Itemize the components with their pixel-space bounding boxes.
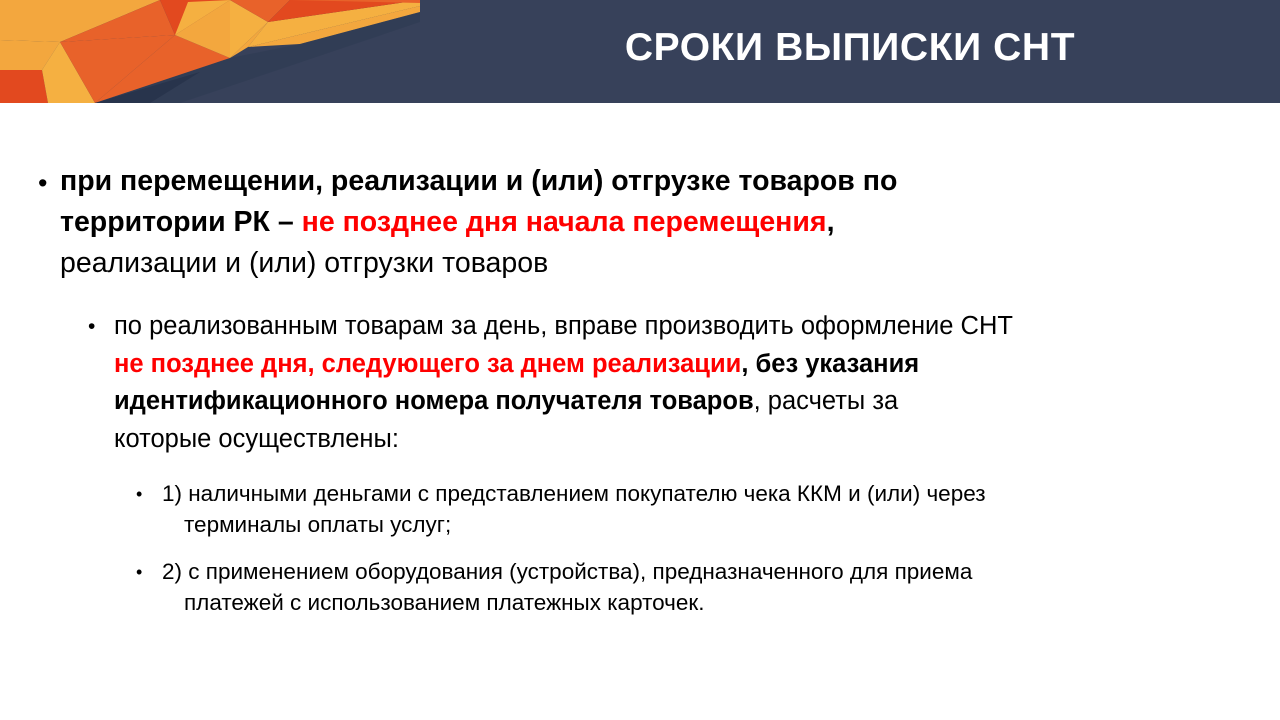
polygon-decoration-icon xyxy=(0,0,420,103)
level2-line1: по реализованным товарам за день, вправе… xyxy=(114,308,1260,346)
bullet-marker-level1: • xyxy=(38,161,60,203)
bullet-level1-text: при перемещении, реализации и (или) отгр… xyxy=(60,161,1254,284)
level2-line3-bold: идентификационного номера получателя тов… xyxy=(114,387,754,415)
level1-line2-black-b: , xyxy=(827,206,835,238)
level1-line2: территории РК – не позднее дня начала пе… xyxy=(60,202,1254,243)
bullet-level3-item2-text: 2) с применением оборудования (устройств… xyxy=(162,556,1266,618)
slide-header-band: СРОКИ ВЫПИСКИ СНТ xyxy=(0,0,1280,103)
level1-line1: при перемещении, реализации и (или) отгр… xyxy=(60,161,1254,202)
level2-line2: не позднее дня, следующего за днем реали… xyxy=(114,346,1260,384)
bullet-level2: • по реализованным товарам за день, впра… xyxy=(88,308,1260,458)
bullet-level3-item1: • 1) наличными деньгами с представлением… xyxy=(136,478,1266,540)
bullet-level1: • при перемещении, реализации и (или) от… xyxy=(38,161,1254,284)
level3-item2-line2: платежей с использованием платежных карт… xyxy=(162,587,1266,618)
bullet-marker-level3-item1: • xyxy=(136,478,162,511)
level2-line2-red: не позднее дня, следующего за днем реали… xyxy=(114,350,741,378)
level3-item1-line2: терминалы оплаты услуг; xyxy=(162,509,1266,540)
level3-item2-line1: 2) с применением оборудования (устройств… xyxy=(162,556,1266,587)
page-title: СРОКИ ВЫПИСКИ СНТ xyxy=(420,0,1280,103)
bullet-level3-item2: • 2) с применением оборудования (устройс… xyxy=(136,556,1266,618)
level1-line3: реализации и (или) отгрузки товаров xyxy=(60,243,1254,284)
bullet-marker-level3-item2: • xyxy=(136,556,162,589)
slide-body: • при перемещении, реализации и (или) от… xyxy=(0,103,1280,720)
level1-line2-black-a: территории РК – xyxy=(60,206,302,238)
level1-line2-red: не позднее дня начала перемещения xyxy=(302,206,827,238)
level2-line2-black: , без указания xyxy=(741,350,919,378)
level3-item1-line1: 1) наличными деньгами с представлением п… xyxy=(162,478,1266,509)
level2-line3-normal: , расчеты за xyxy=(754,387,899,415)
slide: СРОКИ ВЫПИСКИ СНТ • при перемещении, реа… xyxy=(0,0,1280,720)
level2-line4: которые осуществлены: xyxy=(114,421,1260,459)
bullet-marker-level2: • xyxy=(88,308,114,345)
level2-line3: идентификационного номера получателя тов… xyxy=(114,383,1260,421)
bullet-level2-text: по реализованным товарам за день, вправе… xyxy=(114,308,1260,458)
bullet-level3-item1-text: 1) наличными деньгами с представлением п… xyxy=(162,478,1266,540)
